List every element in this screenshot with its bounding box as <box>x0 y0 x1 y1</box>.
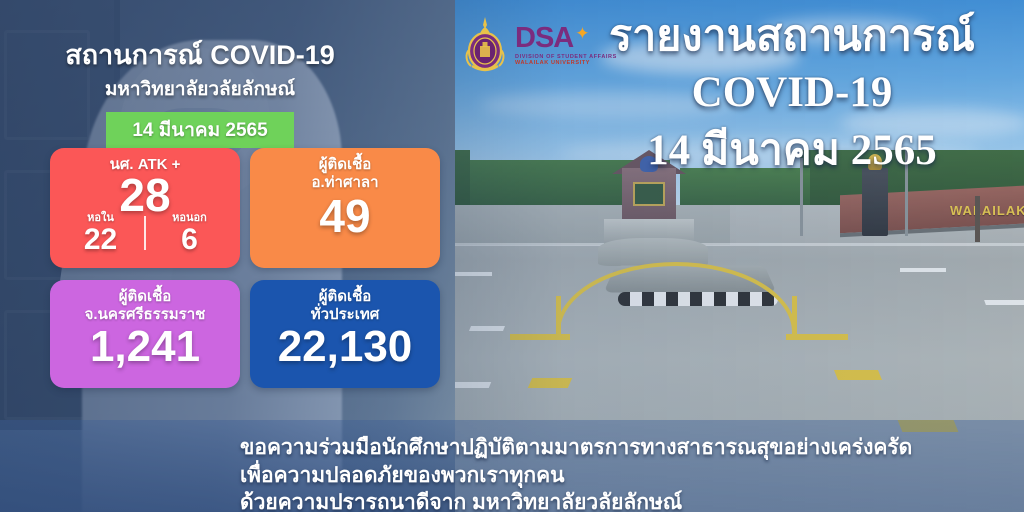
stat-label-line2: อ.ท่าศาลา <box>256 174 434 192</box>
footer-text-block: ขอความร่วมมือนักศึกษาปฏิบัติตามมาตรการทา… <box>240 434 912 512</box>
right-header-block: รายงานสถานการณ์ COVID-19 14 มีนาคม 2565 <box>560 10 1024 177</box>
stat-label-line1: ผู้ติดเชื้อ <box>256 288 434 306</box>
report-heading-line3: 14 มีนาคม 2565 <box>560 124 1024 178</box>
walailak-university-crest-icon <box>462 16 508 74</box>
footer-line3: ด้วยความปรารถนาดีจาก มหาวิทยาลัยวลัยลักษ… <box>240 489 912 512</box>
date-badge: 14 มีนาคม 2565 <box>106 112 293 148</box>
stat-label-line1: ผู้ติดเชื้อ <box>256 156 434 174</box>
breakdown-out-dorm: หอนอก 6 <box>149 212 231 256</box>
stat-label-line1: ผู้ติดเชื้อ <box>56 288 234 306</box>
breakdown-in-dorm: หอใน 22 <box>60 212 142 256</box>
report-heading-line1: รายงานสถานการณ์ <box>560 10 1024 64</box>
stat-label-line2: จ.นครศรีธรรมราช <box>56 306 234 324</box>
stat-breakdown: หอใน 22 หอนอก 6 <box>56 212 234 256</box>
infographic-canvas: ลักษณ์ WALAILAK <box>0 0 1024 512</box>
stat-label-line2: ทั่วประเทศ <box>256 306 434 324</box>
stat-card-thasala-district-cases[interactable]: ผู้ติดเชื้อ อ.ท่าศาลา 49 <box>250 148 440 268</box>
footer-message-band: ขอความร่วมมือนักศึกษาปฏิบัติตามมาตรการทา… <box>0 420 1024 512</box>
page-title: สถานการณ์ COVID-19 <box>30 40 370 71</box>
breakdown-value: 6 <box>149 224 231 256</box>
stat-card-student-atk-positive[interactable]: นศ. ATK + 28 หอใน 22 หอนอก 6 <box>50 148 240 268</box>
stat-value: 22,130 <box>256 325 434 369</box>
stat-value: 1,241 <box>56 325 234 369</box>
left-header-block: สถานการณ์ COVID-19 มหาวิทยาลัยวลัยลักษณ์… <box>30 40 370 148</box>
footer-line2: เพื่อความปลอดภัยของพวกเราทุกคน <box>240 462 912 490</box>
organization-name: มหาวิทยาลัยวลัยลักษณ์ <box>30 74 370 104</box>
stat-card-nationwide-cases[interactable]: ผู้ติดเชื้อ ทั่วประเทศ 22,130 <box>250 280 440 388</box>
stat-card-nakhon-si-thammarat-cases[interactable]: ผู้ติดเชื้อ จ.นครศรีธรรมราช 1,241 <box>50 280 240 388</box>
breakdown-label: หอนอก <box>149 212 231 224</box>
breakdown-value: 22 <box>60 224 142 256</box>
statistics-card-grid: นศ. ATK + 28 หอใน 22 หอนอก 6 ผู้ติดเชื้อ… <box>50 148 440 388</box>
footer-line1: ขอความร่วมมือนักศึกษาปฏิบัติตามมาตรการทา… <box>240 434 912 462</box>
breakdown-label: หอใน <box>60 212 142 224</box>
stat-value: 49 <box>256 193 434 239</box>
report-heading-line2: COVID-19 <box>560 66 1024 120</box>
